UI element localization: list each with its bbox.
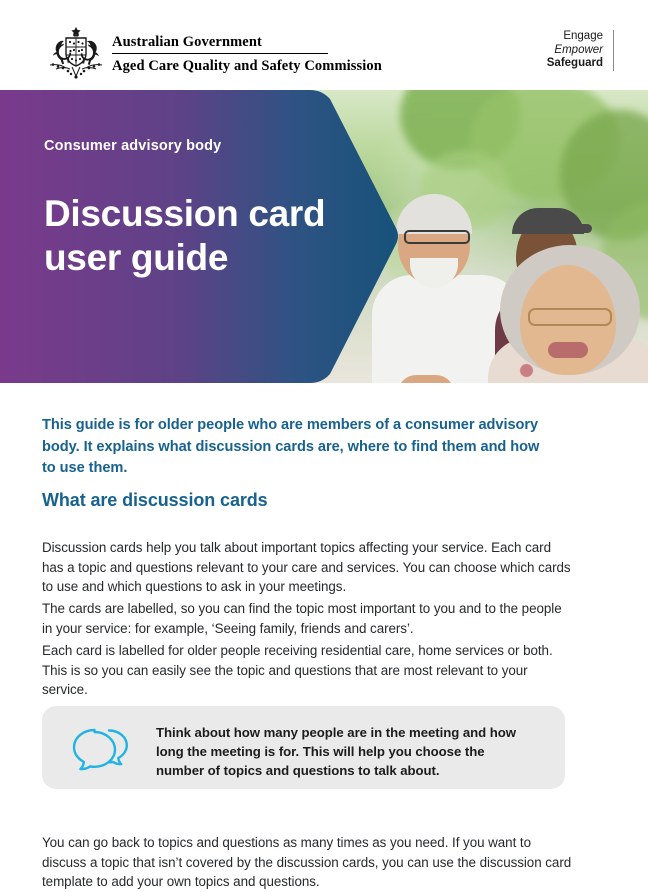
tagline-engage: Engage	[547, 30, 603, 44]
body-paragraph-1: Discussion cards help you talk about imp…	[42, 538, 572, 596]
government-name: Australian Government	[112, 33, 342, 51]
body-paragraph-2: The cards are labelled, so you can find …	[42, 599, 572, 638]
body-paragraph-3: Each card is labelled for older people r…	[42, 641, 572, 699]
page-title: Discussion card user guide	[44, 192, 325, 280]
tagline: Engage Empower Safeguard	[547, 30, 614, 71]
section-heading-what-are-discussion-cards: What are discussion cards	[42, 490, 268, 511]
government-lockup: Australian Government Aged Care Quality …	[112, 33, 342, 75]
body-paragraph-4: You can go back to topics and questions …	[42, 833, 572, 891]
australian-coat-of-arms-icon	[44, 25, 108, 82]
hero-eyebrow: Consumer advisory body	[44, 138, 221, 154]
callout-text: Think about how many people are in the m…	[156, 723, 536, 780]
lockup-divider	[112, 53, 328, 54]
masthead: Australian Government Aged Care Quality …	[0, 0, 648, 90]
speech-bubbles-icon	[68, 722, 142, 776]
hero-banner: Consumer advisory body Discussion card u…	[0, 90, 648, 383]
tip-callout-box: Think about how many people are in the m…	[42, 706, 565, 789]
intro-paragraph: This guide is for older people who are m…	[42, 415, 542, 480]
agency-name: Aged Care Quality and Safety Commission	[112, 57, 342, 75]
tagline-empower: Empower	[547, 44, 603, 58]
tagline-safeguard: Safeguard	[547, 57, 603, 71]
